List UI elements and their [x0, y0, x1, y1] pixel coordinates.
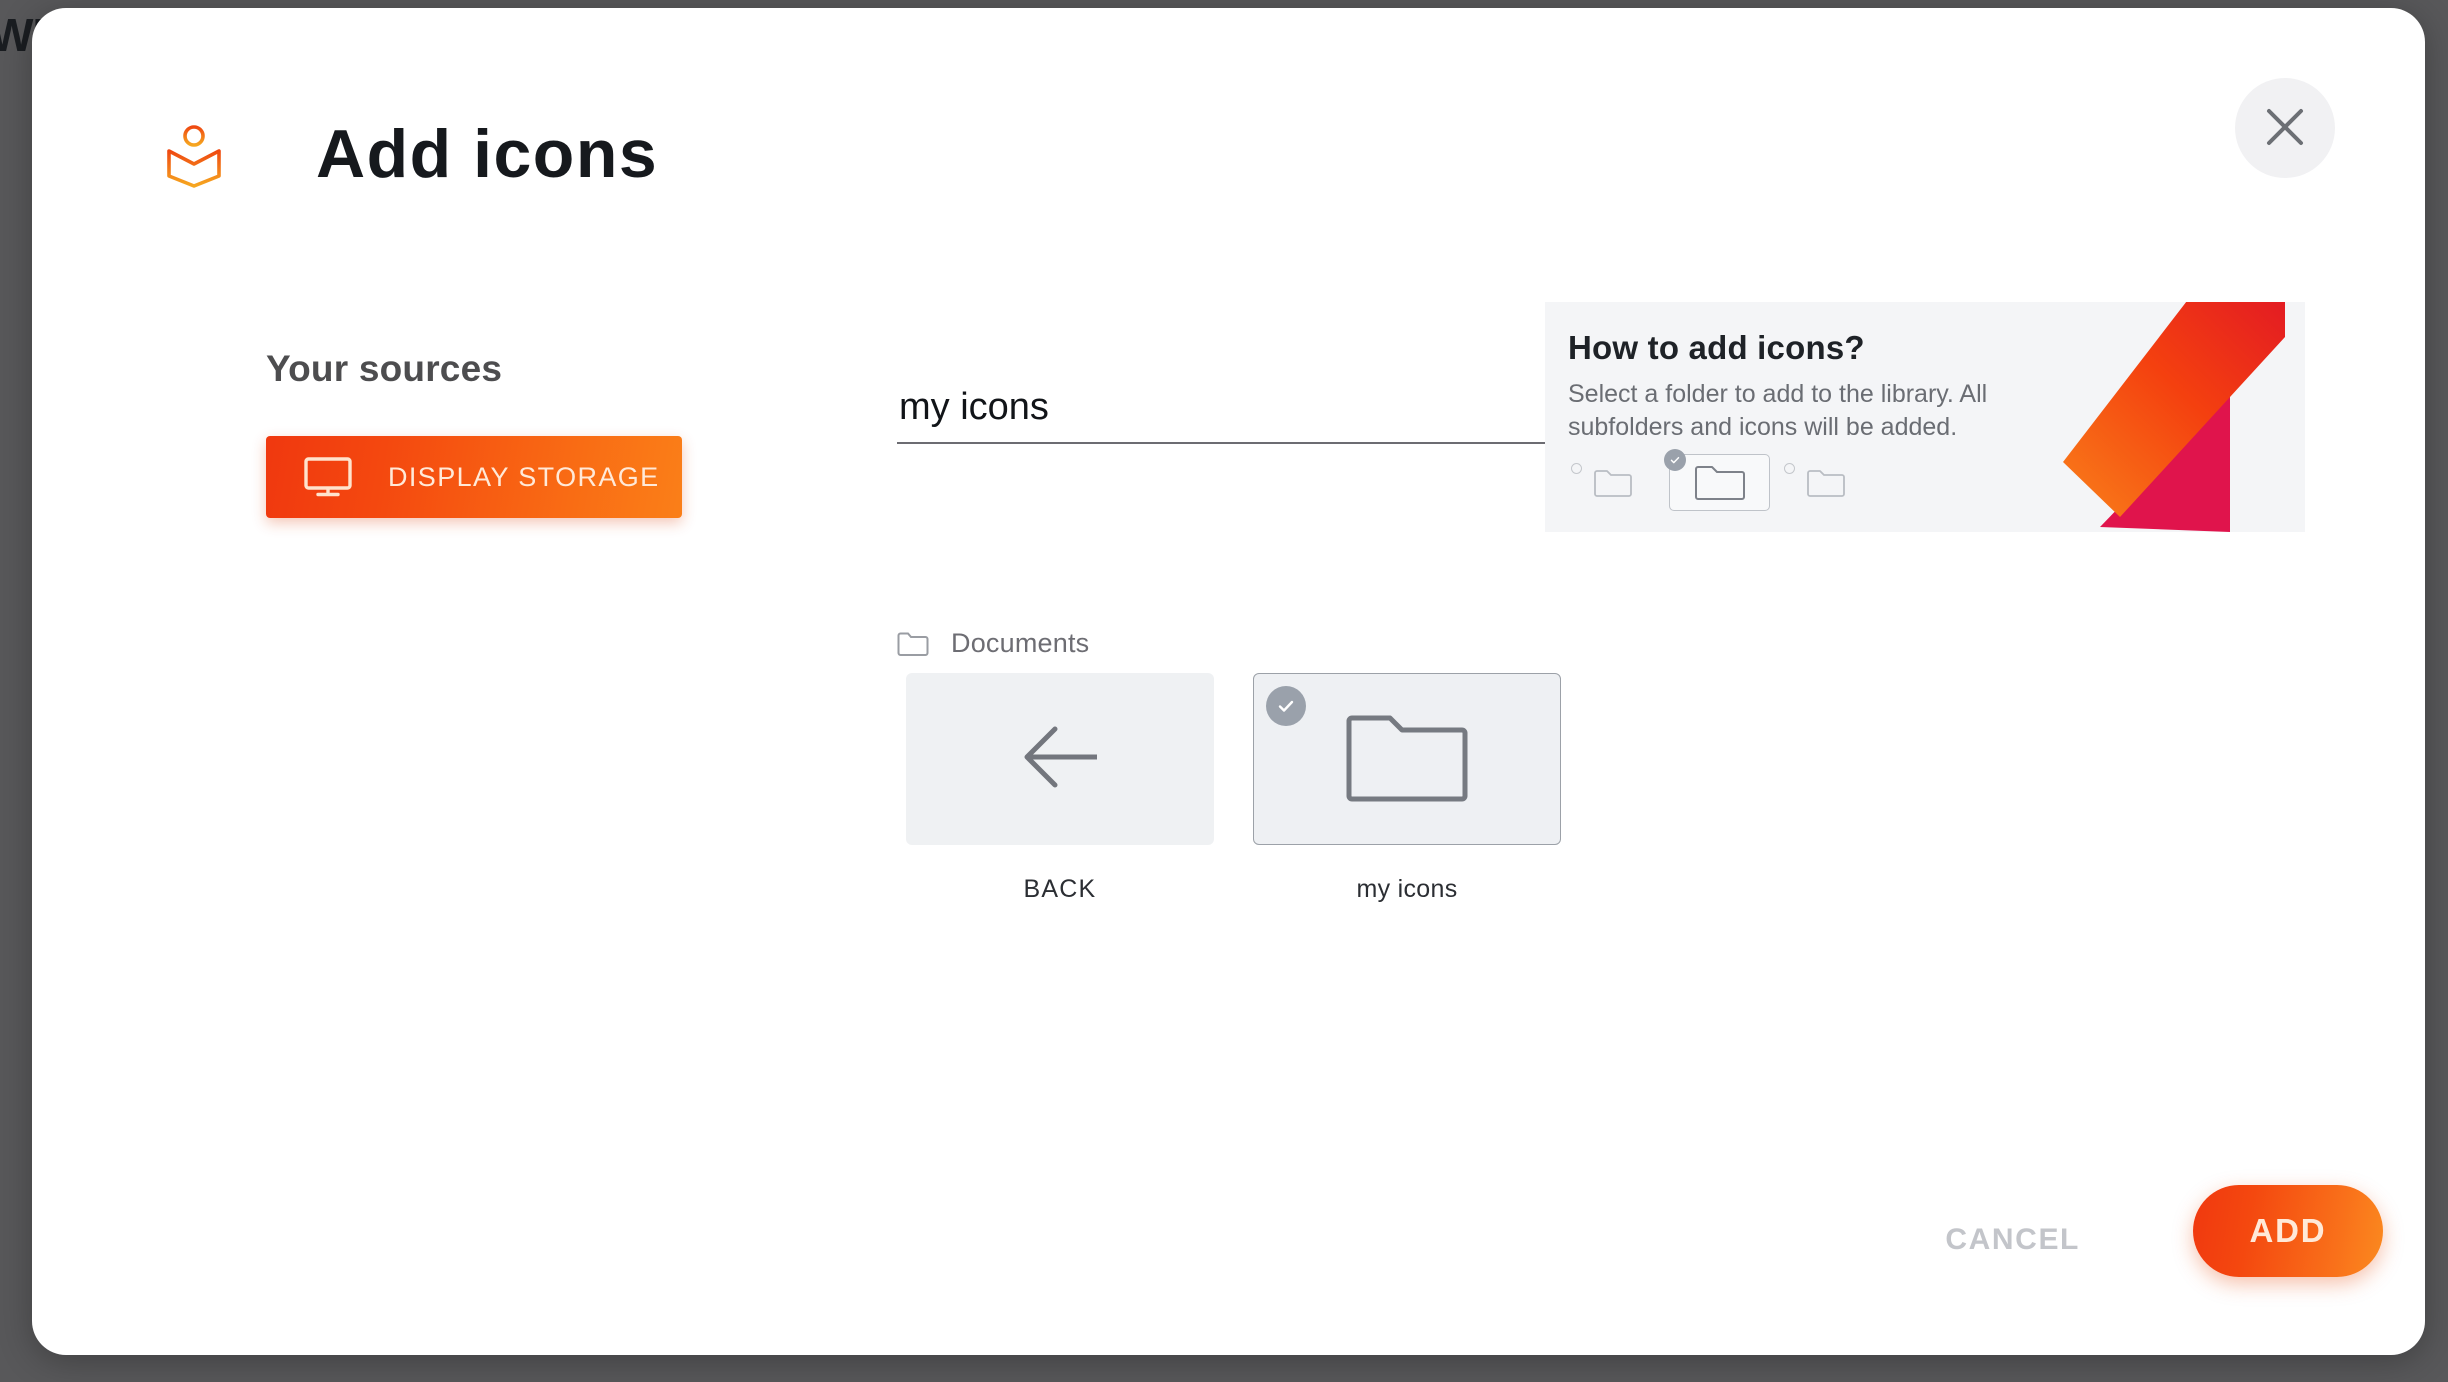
help-panel: How to add icons? Select a folder to add… [1545, 302, 2305, 532]
tile-thumbnail [1253, 673, 1561, 845]
breadcrumb[interactable]: Documents [897, 628, 1089, 659]
add-button[interactable]: ADD [2193, 1185, 2383, 1277]
radio-unselected-icon [1784, 463, 1795, 474]
sources-heading: Your sources [266, 348, 696, 390]
add-icons-dialog: Add icons Your sources DISPLAY STORAGE [32, 8, 2425, 1355]
check-badge-icon [1266, 686, 1306, 726]
file-tile-my-icons[interactable]: my icons [1253, 673, 1561, 904]
help-thumb-selected-center [1669, 454, 1770, 511]
dialog-header: Add icons [32, 8, 2425, 246]
folder-icon [1346, 712, 1468, 807]
arrow-left-icon [1017, 721, 1103, 798]
tile-thumbnail [906, 673, 1214, 845]
help-thumb-unselected-left [1585, 461, 1641, 505]
file-grid: BACK my icons [906, 673, 1561, 904]
chevron-left-graphic-icon [2045, 302, 2305, 532]
monitor-icon [304, 457, 352, 497]
sidebar-item-display-storage[interactable]: DISPLAY STORAGE [266, 436, 682, 518]
help-body: Select a folder to add to the library. A… [1568, 378, 2033, 445]
folder-icon [897, 631, 929, 657]
cancel-button[interactable]: CANCEL [1945, 1223, 2080, 1257]
open-book-reader-icon [166, 124, 222, 188]
sources-panel: Your sources DISPLAY STORAGE [266, 348, 696, 518]
radio-unselected-icon [1571, 463, 1582, 474]
file-tile-label: BACK [906, 875, 1214, 904]
file-tile-back[interactable]: BACK [906, 673, 1214, 904]
page-title: Add icons [316, 120, 658, 188]
close-icon [2263, 105, 2307, 152]
breadcrumb-label: Documents [951, 628, 1089, 659]
folder-name-input[interactable] [897, 378, 1577, 444]
check-badge-icon [1664, 449, 1686, 471]
help-thumbnails [1585, 454, 1854, 511]
close-button[interactable] [2235, 78, 2335, 178]
help-title: How to add icons? [1568, 329, 1865, 367]
sidebar-item-label: DISPLAY STORAGE [388, 462, 660, 493]
dialog-footer: CANCEL ADD [32, 1165, 2425, 1355]
file-tile-label: my icons [1253, 875, 1561, 904]
help-thumb-unselected-right [1798, 461, 1854, 505]
folder-name-section [897, 378, 1577, 444]
